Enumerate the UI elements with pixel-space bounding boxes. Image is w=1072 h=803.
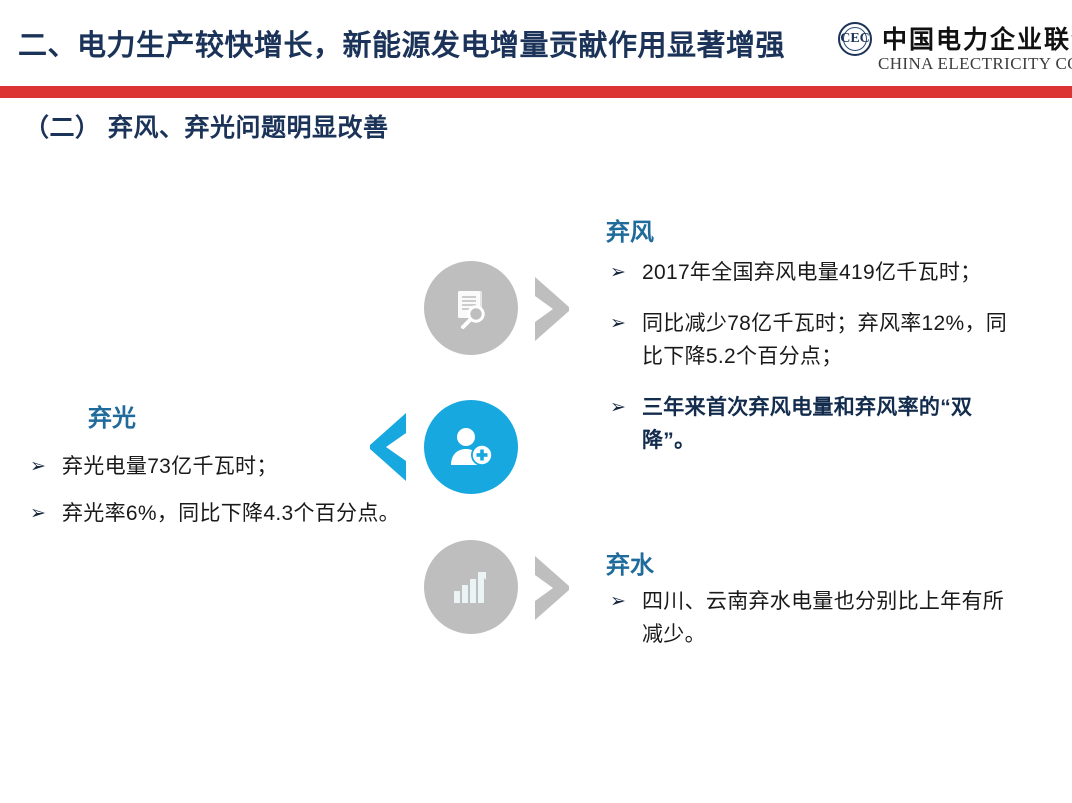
bullet-arrow-icon: ➢ [30, 450, 46, 483]
page-title: 二、电力生产较快增长，新能源发电增量贡献作用显著增强 [18, 22, 785, 64]
chevron-right-icon [531, 553, 575, 623]
bar-chart-icon [451, 569, 491, 605]
bullet-arrow-icon: ➢ [610, 585, 626, 618]
icon-badge-feng [424, 261, 518, 355]
list-item: ➢ 三年来首次弃风电量和弃风率的“双降”。 [608, 391, 1008, 457]
list-item-text: 三年来首次弃风电量和弃风率的“双降”。 [642, 396, 972, 452]
add-user-icon [447, 425, 495, 469]
bullet-list-guang: ➢ 弃光电量73亿千瓦时； ➢ 弃光率6%，同比下降4.3个百分点。 [28, 450, 448, 544]
list-item-text: 四川、云南弃水电量也分别比上年有所减少。 [642, 590, 1004, 646]
list-item-text: 同比减少78亿千瓦时；弃风率12%，同比下降5.2个百分点； [642, 312, 1007, 368]
header-divider-bar [0, 86, 1072, 98]
section-heading-guang: 弃光 [88, 398, 136, 433]
list-item-text: 弃光电量73亿千瓦时； [62, 455, 278, 478]
bullet-list-shui: ➢ 四川、云南弃水电量也分别比上年有所减少。 [608, 585, 1018, 651]
bullet-arrow-icon: ➢ [610, 307, 626, 340]
logo-name-english: CHINA ELECTRICITY COUNCIL [878, 54, 1072, 74]
chevron-right-icon [531, 274, 575, 344]
list-item: ➢ 弃光电量73亿千瓦时； [28, 450, 448, 483]
cec-emblem-icon: CEC [838, 22, 872, 56]
section-heading-feng: 弃风 [606, 212, 654, 247]
list-item-text: 2017年全国弃风电量419亿千瓦时； [642, 261, 981, 284]
bullet-arrow-icon: ➢ [610, 256, 626, 289]
list-item: ➢ 四川、云南弃水电量也分别比上年有所减少。 [608, 585, 1018, 651]
emblem-initials: CEC [840, 24, 870, 54]
list-item: ➢ 2017年全国弃风电量419亿千瓦时； [608, 256, 1008, 289]
list-item-text: 弃光率6%，同比下降4.3个百分点。 [62, 502, 400, 525]
section-subtitle: （二） 弃风、弃光问题明显改善 [24, 108, 388, 144]
bullet-list-feng: ➢ 2017年全国弃风电量419亿千瓦时； ➢ 同比减少78亿千瓦时；弃风率12… [608, 256, 1008, 457]
slide-header: 二、电力生产较快增长，新能源发电增量贡献作用显著增强 CEC 中国电力企业联合会… [0, 0, 1072, 96]
bullet-arrow-icon: ➢ [30, 497, 46, 530]
list-item: ➢ 同比减少78亿千瓦时；弃风率12%，同比下降5.2个百分点； [608, 307, 1008, 373]
slide-canvas: 二、电力生产较快增长，新能源发电增量贡献作用显著增强 CEC 中国电力企业联合会… [0, 0, 1072, 803]
bullet-arrow-icon: ➢ [610, 391, 626, 424]
logo-name-chinese: 中国电力企业联合会 [882, 20, 1072, 56]
section-heading-shui: 弃水 [606, 545, 654, 580]
organization-logo: CEC 中国电力企业联合会 CHINA ELECTRICITY COUNCIL [838, 20, 1064, 78]
document-search-icon [448, 285, 494, 331]
list-item: ➢ 弃光率6%，同比下降4.3个百分点。 [28, 497, 448, 530]
icon-badge-shui [424, 540, 518, 634]
